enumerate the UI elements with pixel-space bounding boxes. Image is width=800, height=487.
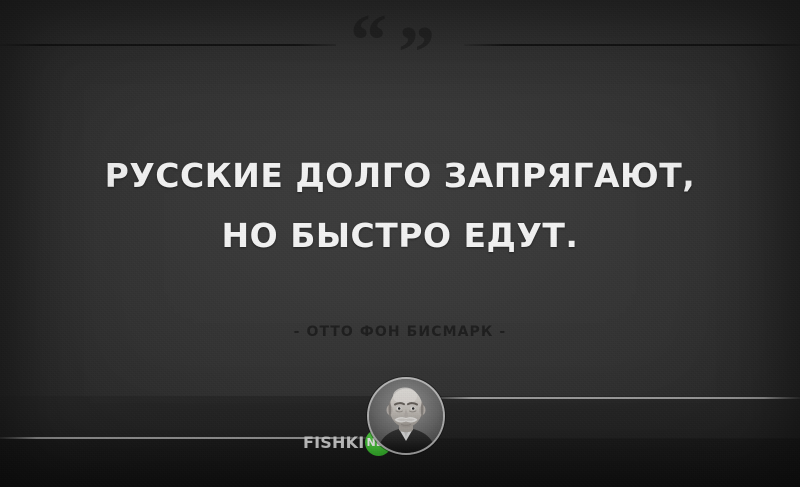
top-ornament: “ ” [0, 28, 800, 72]
quote-card: “ ” РУССКИЕ ДОЛГО ЗАПРЯГАЮТ, НО БЫСТРО Е… [0, 0, 800, 487]
portrait-image [369, 379, 443, 453]
quote-line-1: РУССКИЕ ДОЛГО ЗАПРЯГАЮТ, [0, 146, 800, 206]
quote-text: РУССКИЕ ДОЛГО ЗАПРЯГАЮТ, НО БЫСТРО ЕДУТ. [0, 146, 800, 266]
close-quote-icon: ” [398, 16, 435, 90]
watermark-name: FISHKI [303, 433, 364, 452]
quotation-marks: “ ” [336, 10, 464, 80]
footer-hairline-right [436, 397, 800, 399]
quote-attribution: - ОТТО ФОН БИСМАРК - [0, 324, 800, 340]
ornament-rule-left [0, 44, 336, 46]
quote-line-2: НО БЫСТРО ЕДУТ. [0, 206, 800, 266]
open-quote-icon: “ [350, 4, 387, 78]
ornament-rule-right [464, 44, 800, 46]
author-portrait [367, 377, 445, 455]
